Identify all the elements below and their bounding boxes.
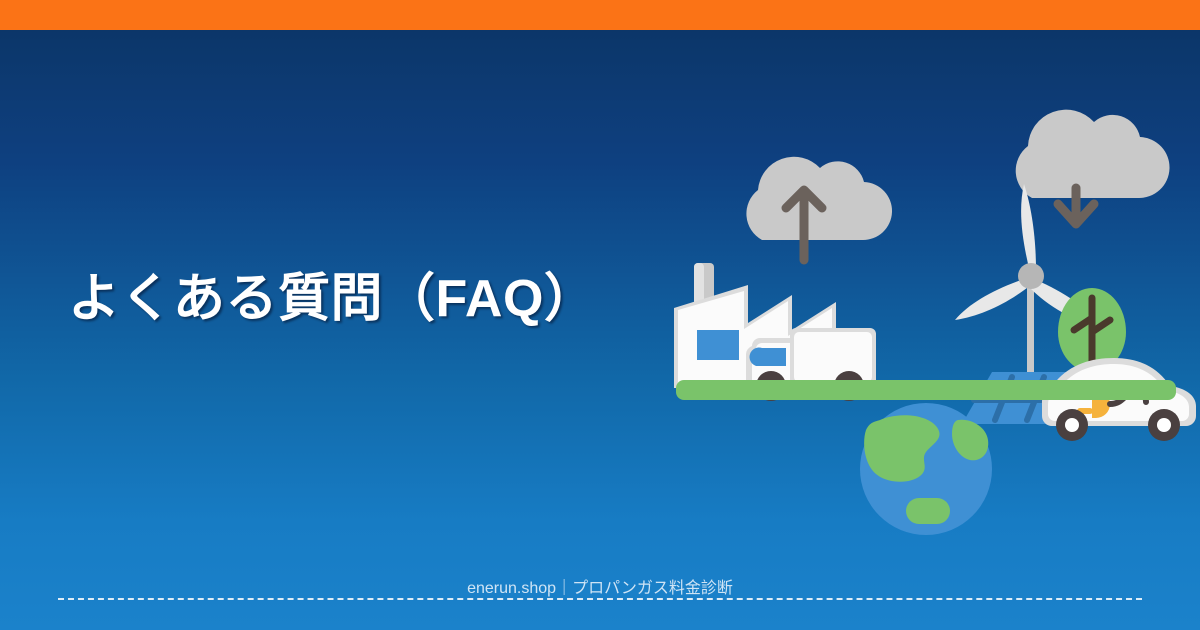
footer-branding: enerun.shop｜プロパンガス料金診断: [0, 574, 1200, 598]
turbine-hub: [1018, 263, 1044, 289]
cloud-emission-up: [746, 157, 892, 260]
top-accent-bar: [0, 0, 1200, 30]
footer-divider: [58, 598, 1142, 600]
cloud-absorption-down: [1016, 110, 1170, 224]
ground-bar: [676, 380, 1176, 400]
sustainable-energy-illustration: [640, 80, 1200, 550]
factory-window: [697, 330, 739, 360]
slide-canvas: よくある質問（FAQ） enerun.shop｜プロパンガス料金診断: [0, 0, 1200, 630]
page-title: よくある質問（FAQ）: [68, 268, 596, 330]
earth-globe: [860, 403, 992, 535]
truck-window: [750, 348, 786, 366]
